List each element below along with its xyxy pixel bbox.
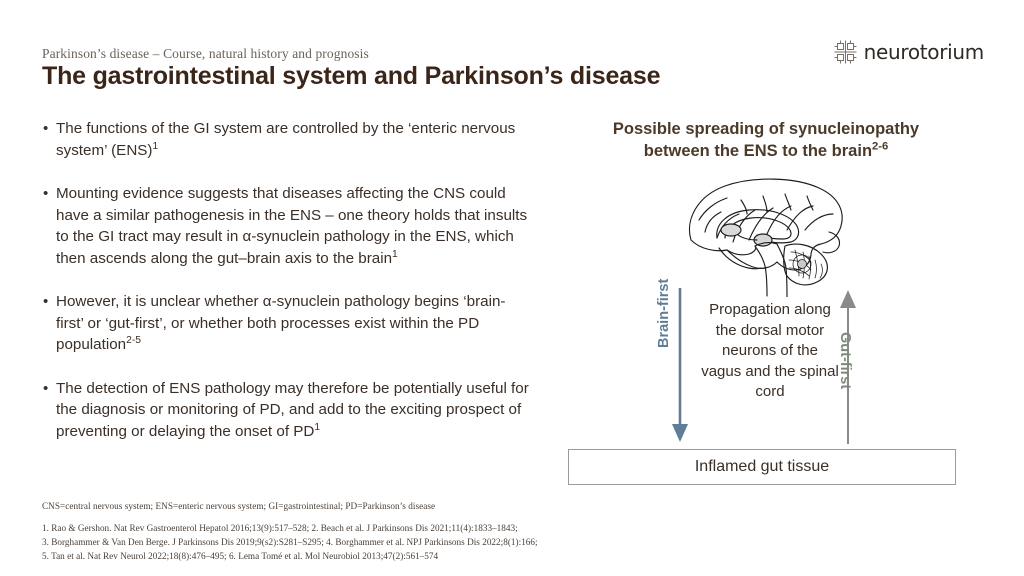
- reference-line: 1. Rao & Gershon. Nat Rev Gastroenterol …: [42, 521, 538, 535]
- references-list: 1. Rao & Gershon. Nat Rev Gastroenterol …: [42, 521, 538, 563]
- bullet-marker: •: [40, 183, 56, 204]
- bullet-marker: •: [40, 118, 56, 139]
- bullet-marker: •: [40, 291, 56, 312]
- inflamed-gut-tissue-box: Inflamed gut tissue: [568, 449, 956, 485]
- citation-superscript: 1: [314, 421, 320, 432]
- propagation-description: Propagation along the dorsal motor neuro…: [700, 300, 840, 403]
- bullet-marker: •: [40, 378, 56, 399]
- citation-superscript: 2-5: [126, 335, 141, 346]
- slide-kicker: Parkinson’s disease – Course, natural hi…: [42, 46, 369, 62]
- reference-line: 3. Borghammer & Van Den Berge. J Parkins…: [42, 535, 538, 549]
- reference-line: 5. Tan et al. Nat Rev Neurol 2022;18(8):…: [42, 549, 538, 563]
- propagation-flow: Brain-first Gut-first Propagation along …: [560, 286, 972, 451]
- brain-first-label: Brain-first: [656, 279, 672, 348]
- citation-superscript: 2-6: [872, 141, 888, 153]
- list-item: • The detection of ENS pathology may the…: [40, 378, 530, 443]
- list-item: • However, it is unclear whether α-synuc…: [40, 291, 530, 356]
- brand-logo: neurotorium: [834, 40, 984, 64]
- citation-superscript: 1: [152, 140, 158, 151]
- page-title: The gastrointestinal system and Parkinso…: [42, 62, 660, 91]
- diagram-heading-line1: Possible spreading of synucleinopathy: [613, 120, 919, 138]
- sagittal-brain-illustration: [645, 172, 915, 297]
- bullet-list: • The functions of the GI system are con…: [40, 118, 530, 460]
- bullet-text: The detection of ENS pathology may there…: [56, 378, 530, 443]
- diagram-heading-line2: between the ENS to the brain: [644, 142, 872, 160]
- bullet-text: However, it is unclear whether α-synucle…: [56, 291, 530, 356]
- brand-logo-text: neurotorium: [864, 40, 984, 64]
- list-item: • The functions of the GI system are con…: [40, 118, 530, 161]
- citation-superscript: 1: [392, 248, 398, 259]
- bullet-text: Mounting evidence suggests that diseases…: [56, 183, 530, 269]
- slide-root: Parkinson’s disease – Course, natural hi…: [0, 0, 1024, 576]
- abbreviations-note: CNS=central nervous system; ENS=enteric …: [42, 501, 435, 511]
- inflamed-gut-tissue-label: Inflamed gut tissue: [695, 458, 829, 476]
- bullet-text: The functions of the GI system are contr…: [56, 118, 530, 161]
- neurotorium-grid-icon: [834, 40, 857, 64]
- list-item: • Mounting evidence suggests that diseas…: [40, 183, 530, 269]
- diagram-heading: Possible spreading of synucleinopathy be…: [560, 118, 972, 162]
